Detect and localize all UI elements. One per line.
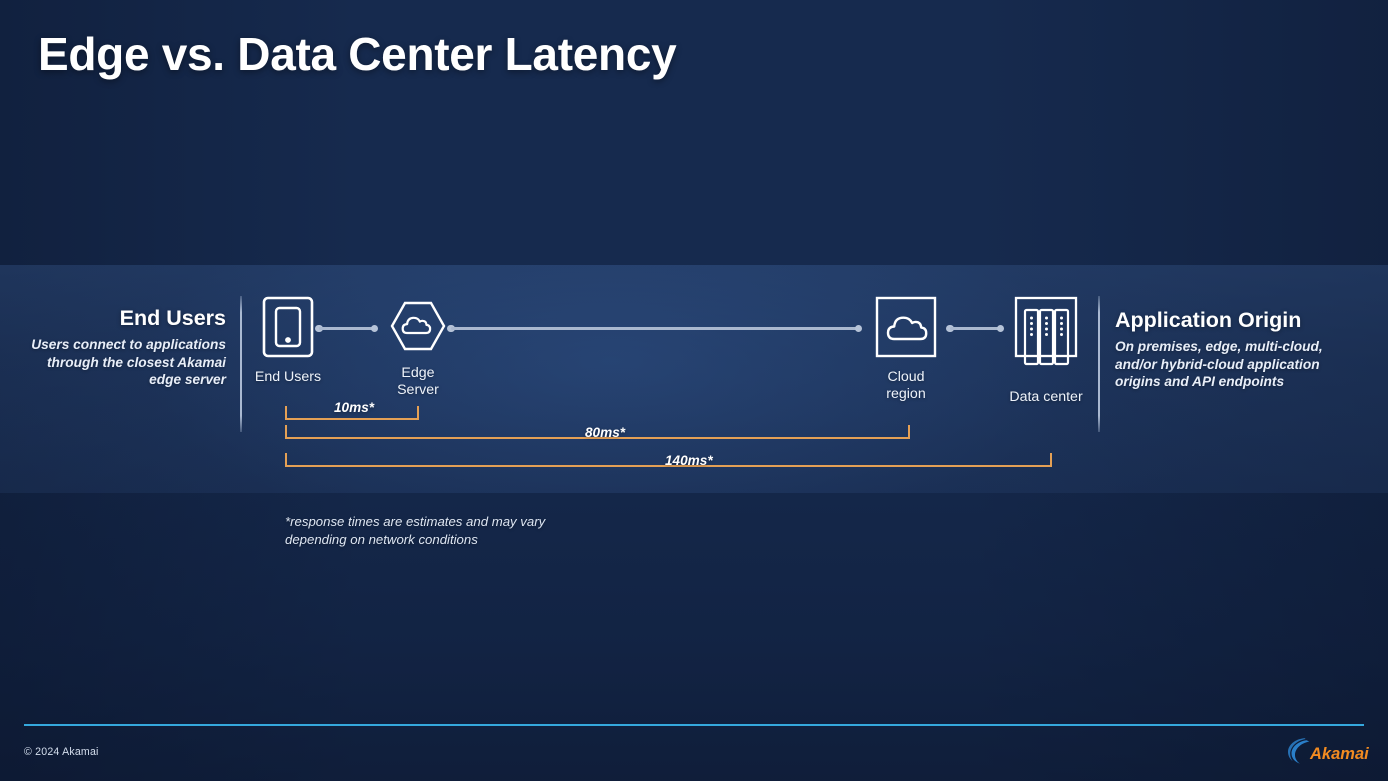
left-panel-heading: End Users xyxy=(30,306,226,331)
footer-divider xyxy=(24,724,1364,726)
node-end-users: End Users xyxy=(238,296,338,386)
akamai-logo: Akamai xyxy=(1286,737,1378,767)
server-rack-icon xyxy=(995,296,1097,383)
right-panel-body: On premises, edge, multi-cloud, and/or h… xyxy=(1115,338,1365,391)
connector-edge-to-cloud xyxy=(447,324,862,333)
right-panel-divider xyxy=(1098,296,1100,432)
left-description-panel: End Users Users connect to applications … xyxy=(30,306,226,389)
latency-label-10ms: 10ms* xyxy=(334,400,374,415)
slide-canvas: Edge vs. Data Center Latency End Users U… xyxy=(0,0,1388,781)
latency-label-140ms: 140ms* xyxy=(665,453,713,468)
svg-text:Akamai: Akamai xyxy=(1309,745,1369,763)
left-panel-body: Users connect to applications through th… xyxy=(30,336,226,389)
connector-line xyxy=(950,327,1000,329)
latency-footnote: *response times are estimates and may va… xyxy=(285,513,545,549)
connector-dot-right xyxy=(371,325,379,333)
node-label-cloud-region: Cloud region xyxy=(858,369,954,403)
right-description-panel: Application Origin On premises, edge, mu… xyxy=(1115,308,1365,391)
connector-line xyxy=(451,327,858,329)
node-cloud-region: Cloud region xyxy=(858,296,954,403)
latency-label-80ms: 80ms* xyxy=(585,425,625,440)
node-edge-server: Edge Server xyxy=(378,300,458,399)
copyright-text: © 2024 Akamai xyxy=(24,746,99,758)
node-label-end-users: End Users xyxy=(238,369,338,386)
mobile-phone-icon xyxy=(238,296,338,363)
node-data-center: Data center xyxy=(995,296,1097,406)
node-label-edge-server: Edge Server xyxy=(378,365,458,399)
node-label-data-center: Data center xyxy=(995,389,1097,406)
cloud-icon xyxy=(858,296,954,363)
hexagon-cloud-icon xyxy=(378,300,458,357)
page-title: Edge vs. Data Center Latency xyxy=(38,27,676,81)
right-panel-heading: Application Origin xyxy=(1115,308,1365,333)
